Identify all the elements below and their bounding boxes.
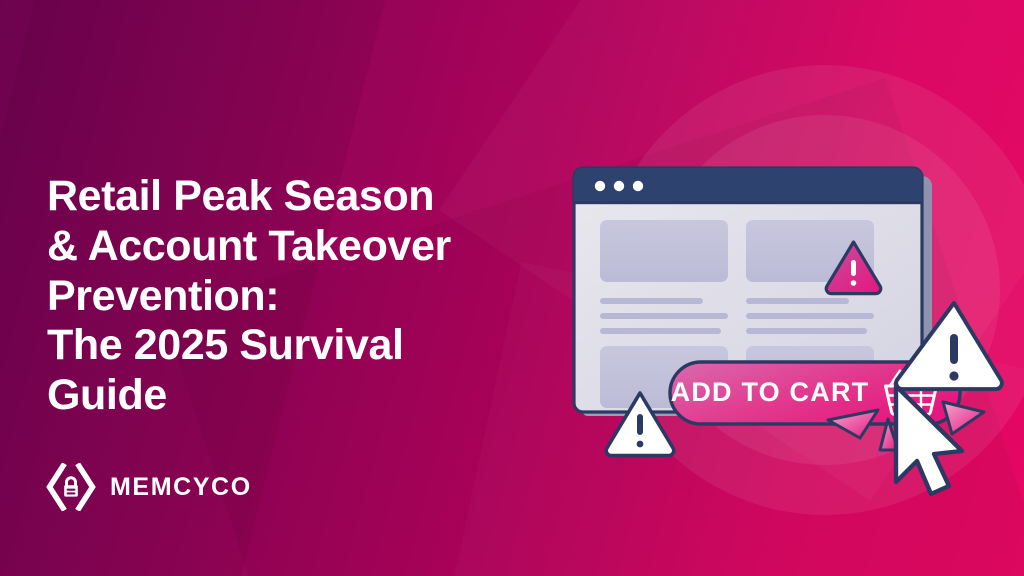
titlebar-dots (595, 181, 643, 191)
lock-in-angle-brackets-icon (46, 463, 96, 511)
promo-banner: Retail Peak Season & Account Takeover Pr… (0, 0, 1024, 576)
brand-name: MEMCYCO (110, 473, 252, 502)
page-title: Retail Peak Season & Account Takeover Pr… (47, 172, 547, 421)
add-to-cart-label: ADD TO CART (671, 377, 870, 407)
brand-logo[interactable]: MEMCYCO (46, 463, 252, 511)
ecommerce-checkout-attack-illustration: ADD TO CART (560, 150, 1020, 570)
